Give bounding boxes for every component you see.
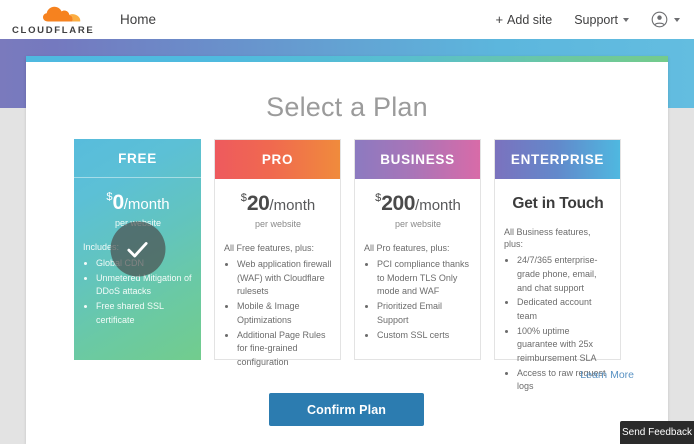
card-accent-stripe bbox=[26, 56, 668, 62]
top-navigation-bar: CLOUDFLARE Home + Add site Support bbox=[0, 0, 694, 39]
plan-card-business[interactable]: BUSINESS $200/month per website All Pro … bbox=[354, 139, 481, 360]
confirm-plan-button[interactable]: Confirm Plan bbox=[269, 393, 424, 426]
nav-right-group: + Add site Support bbox=[495, 11, 680, 28]
list-item: Additional Page Rules for fine-grained c… bbox=[237, 329, 332, 370]
price-period: /month bbox=[415, 197, 461, 214]
support-label: Support bbox=[574, 13, 618, 27]
plan-features-intro: Includes: bbox=[83, 241, 193, 253]
plan-card-list: FREE $0/month per website Includes: Glob… bbox=[74, 139, 636, 360]
plan-card-free[interactable]: FREE $0/month per website Includes: Glob… bbox=[74, 139, 201, 360]
plan-price-pro: $20/month bbox=[224, 193, 332, 214]
plan-features-intro: All Business features, plus: bbox=[504, 226, 612, 250]
add-site-label: Add site bbox=[507, 13, 552, 27]
price-period: /month bbox=[269, 197, 315, 214]
plan-card-pro[interactable]: PRO $20/month per website All Free featu… bbox=[214, 139, 341, 360]
send-feedback-tab[interactable]: Send Feedback bbox=[620, 421, 694, 444]
list-item: PCI compliance thanks to Modern TLS Only… bbox=[377, 258, 472, 299]
learn-more-link[interactable]: Learn More bbox=[580, 369, 634, 381]
nav-item-home[interactable]: Home bbox=[118, 8, 158, 31]
plan-price-free: $0/month bbox=[83, 192, 193, 213]
list-item: Dedicated account team bbox=[517, 296, 612, 323]
add-site-button[interactable]: + Add site bbox=[495, 13, 552, 27]
cloudflare-brand-logo[interactable]: CLOUDFLARE bbox=[12, 3, 88, 37]
price-amount: 0 bbox=[112, 191, 123, 214]
plan-price-business: $200/month bbox=[364, 193, 472, 214]
user-avatar-icon bbox=[651, 11, 668, 28]
plan-features-pro: Web application firewall (WAF) with Clou… bbox=[224, 258, 332, 369]
plan-price-subtext: per website bbox=[83, 218, 193, 228]
cloudflare-cloud-icon bbox=[42, 5, 86, 22]
list-item: Mobile & Image Optimizations bbox=[237, 300, 332, 327]
plan-features-business: PCI compliance thanks to Modern TLS Only… bbox=[364, 258, 472, 342]
plan-features-free: Global CDN Unmetered Mitigation of DDoS … bbox=[83, 257, 193, 327]
plan-header-business: BUSINESS bbox=[355, 140, 480, 179]
plan-header-enterprise: ENTERPRISE bbox=[495, 140, 620, 179]
list-item: Prioritized Email Support bbox=[377, 300, 472, 327]
price-amount: 200 bbox=[381, 192, 415, 215]
list-item: Custom SSL certs bbox=[377, 329, 472, 343]
user-account-menu[interactable] bbox=[651, 11, 680, 28]
plan-price-subtext: per website bbox=[224, 219, 332, 229]
list-item: Unmetered Mitigation of DDoS attacks bbox=[96, 272, 193, 299]
plan-body-free: $0/month per website Includes: Global CD… bbox=[74, 178, 201, 339]
plan-contact-label: Get in Touch bbox=[504, 195, 612, 213]
list-item: 100% uptime guarantee with 25x reimburse… bbox=[517, 325, 612, 366]
page-title: Select a Plan bbox=[26, 92, 668, 123]
plan-body-business: $200/month per website All Pro features,… bbox=[355, 179, 480, 353]
plan-header-pro: PRO bbox=[215, 140, 340, 179]
chevron-down-icon bbox=[623, 18, 629, 22]
list-item: Web application firewall (WAF) with Clou… bbox=[237, 258, 332, 299]
cloudflare-wordmark: CLOUDFLARE bbox=[12, 25, 94, 36]
support-menu[interactable]: Support bbox=[574, 13, 629, 27]
plan-card-enterprise[interactable]: ENTERPRISE Get in Touch All Business fea… bbox=[494, 139, 621, 360]
plan-header-free: FREE bbox=[74, 139, 201, 178]
plan-features-intro: All Free features, plus: bbox=[224, 242, 332, 254]
app-root: CLOUDFLARE Home + Add site Support bbox=[0, 0, 694, 444]
plan-features-intro: All Pro features, plus: bbox=[364, 242, 472, 254]
plan-body-pro: $20/month per website All Free features,… bbox=[215, 179, 340, 381]
plan-selection-card: Select a Plan FREE $0/month per website … bbox=[26, 56, 668, 444]
list-item: Free shared SSL certificate bbox=[96, 300, 193, 327]
list-item: 24/7/365 enterprise-grade phone, email, … bbox=[517, 254, 612, 295]
plan-price-subtext: per website bbox=[364, 219, 472, 229]
list-item: Global CDN bbox=[96, 257, 193, 271]
price-amount: 20 bbox=[247, 192, 270, 215]
chevron-down-icon bbox=[674, 18, 680, 22]
price-period: /month bbox=[124, 196, 170, 213]
plus-icon: + bbox=[495, 13, 503, 26]
